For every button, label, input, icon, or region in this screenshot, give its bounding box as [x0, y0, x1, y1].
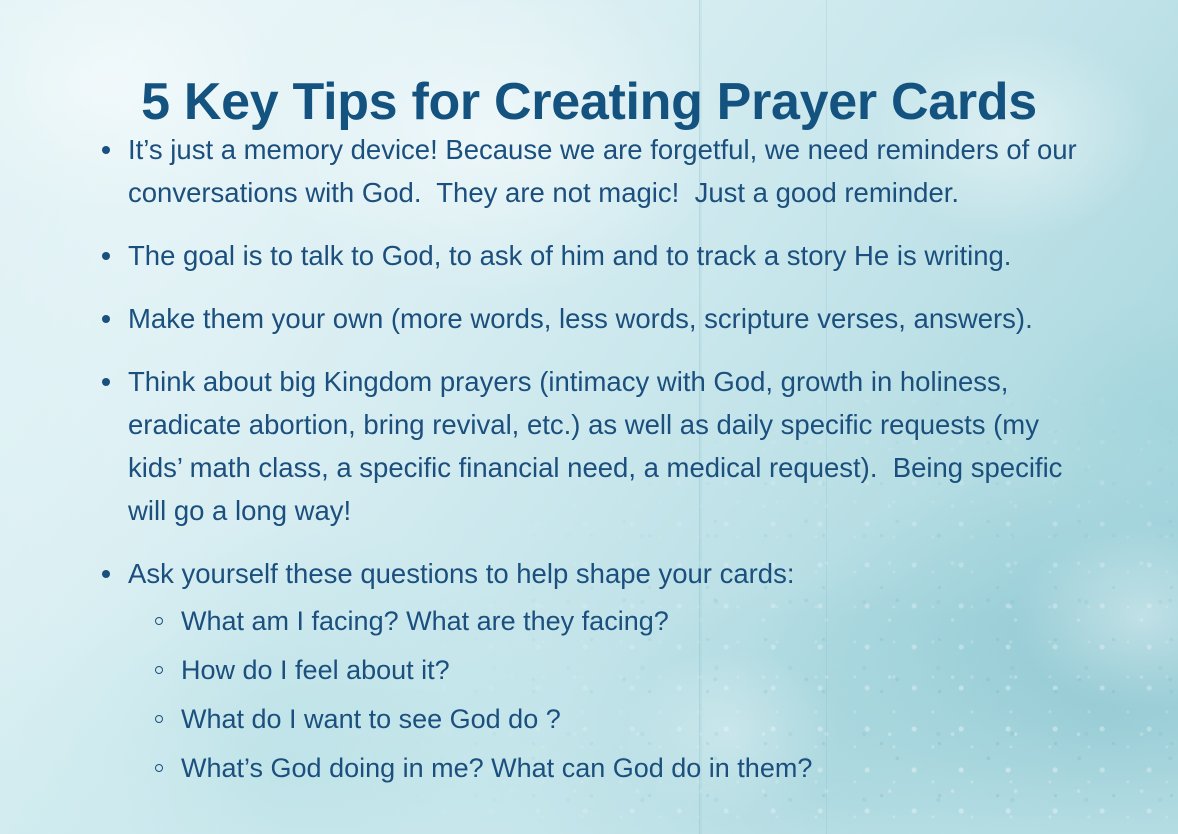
- sub-list-item-label: What am I facing? What are they facing?: [181, 599, 1082, 643]
- sub-list-item-label: How do I feel about it?: [181, 648, 1082, 692]
- sub-list-item: What’s God doing in me? What can God do …: [128, 746, 1082, 790]
- sub-list-item: How do I feel about it?: [128, 648, 1082, 692]
- bullet-text: Make them your own (more words, less wor…: [128, 297, 1082, 340]
- bullet-disc-icon: [102, 315, 110, 323]
- bullet-item: It’s just a memory device! Because we ar…: [96, 128, 1082, 214]
- bullet-disc-icon: [102, 378, 110, 386]
- bullet-disc-icon: [102, 252, 110, 260]
- sub-list-item-label: What’s God doing in me? What can God do …: [181, 746, 1082, 790]
- presentation-slide: 5 Key Tips for Creating Prayer Cards It’…: [0, 0, 1178, 834]
- sub-list-item-label: What do I want to see God do ?: [181, 697, 1082, 741]
- bullet-text: The goal is to talk to God, to ask of hi…: [128, 234, 1082, 277]
- questions-sub-list: What am I facing? What are they facing? …: [128, 599, 1082, 790]
- bullet-text: It’s just a memory device! Because we ar…: [128, 128, 1082, 214]
- tips-bullet-list: It’s just a memory device! Because we ar…: [96, 128, 1082, 790]
- bullet-item: Ask yourself these questions to help sha…: [96, 552, 1082, 790]
- bullet-item: Make them your own (more words, less wor…: [96, 297, 1082, 340]
- slide-content: 5 Key Tips for Creating Prayer Cards It’…: [0, 0, 1178, 834]
- bullet-item: The goal is to talk to God, to ask of hi…: [96, 234, 1082, 277]
- slide-title: 5 Key Tips for Creating Prayer Cards: [0, 73, 1178, 131]
- bullet-text: Ask yourself these questions to help sha…: [128, 552, 1082, 595]
- bullet-circle-icon: [155, 617, 163, 625]
- bullet-disc-icon: [102, 570, 110, 578]
- bullet-circle-icon: [155, 764, 163, 772]
- bullet-text: Think about big Kingdom prayers (intimac…: [128, 360, 1082, 532]
- sub-list-item: What do I want to see God do ?: [128, 697, 1082, 741]
- bullet-circle-icon: [155, 666, 163, 674]
- bullet-item: Think about big Kingdom prayers (intimac…: [96, 360, 1082, 532]
- bullet-circle-icon: [155, 715, 163, 723]
- sub-list-item: What am I facing? What are they facing?: [128, 599, 1082, 643]
- bullet-disc-icon: [102, 146, 110, 154]
